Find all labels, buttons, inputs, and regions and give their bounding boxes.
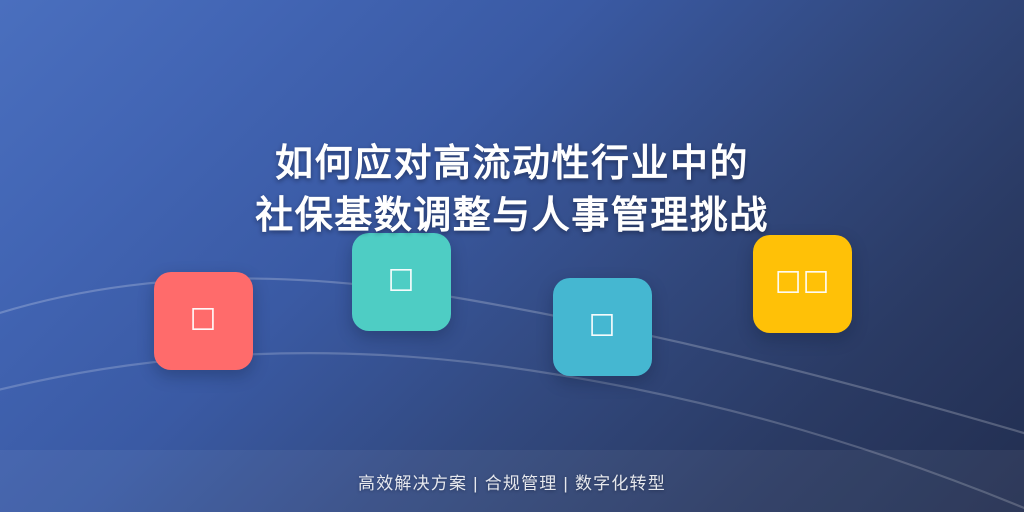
missing-glyph-box-icon: ☐ [388, 267, 416, 297]
title-line-2: 社保基数调整与人事管理挑战 [0, 190, 1024, 242]
missing-glyph-box-icon: ☐ [190, 306, 218, 336]
page-title: 如何应对高流动性行业中的 社保基数调整与人事管理挑战 [0, 138, 1024, 242]
feature-card-yellow[interactable]: ☐☐ [753, 235, 852, 333]
title-line-1: 如何应对高流动性行业中的 [0, 138, 1024, 190]
footer-bar: 高效解决方案 | 合规管理 | 数字化转型 [0, 450, 1024, 512]
background-wave-decoration [0, 0, 1024, 512]
missing-glyph-box-icon: ☐ [589, 312, 617, 342]
presentation-slide: 如何应对高流动性行业中的 社保基数调整与人事管理挑战 ☐ ☐ ☐ ☐☐ 高效解决… [0, 0, 1024, 512]
feature-card-red[interactable]: ☐ [154, 272, 253, 370]
missing-glyph-box-pair-icon: ☐☐ [775, 269, 831, 299]
feature-card-cyan[interactable]: ☐ [553, 278, 652, 376]
footer-tagline: 高效解决方案 | 合规管理 | 数字化转型 [358, 469, 666, 494]
feature-card-teal[interactable]: ☐ [352, 233, 451, 331]
